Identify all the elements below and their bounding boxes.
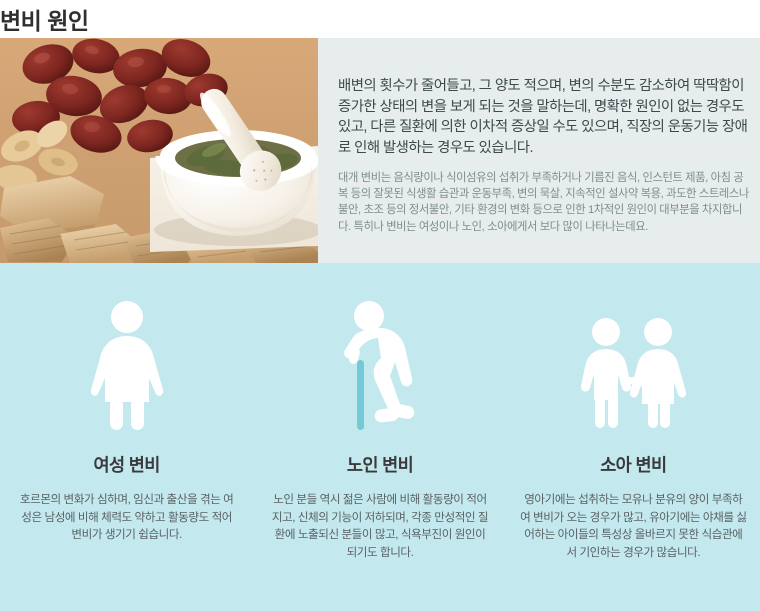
- elderly-with-cane-icon: [328, 290, 432, 430]
- cause-body-children: 영아기에는 섭취하는 모유나 분유의 양이 부족하여 변비가 오는 경우가 많고…: [519, 491, 747, 561]
- intro-sub-paragraph: 대개 변비는 음식량이나 식이섬유의 섭취가 부족하거나 기름진 음식, 인스턴…: [338, 170, 750, 235]
- cause-card-children: 소아 변비 영아기에는 섭취하는 모유나 분유의 양이 부족하여 변비가 오는 …: [507, 263, 760, 611]
- intro-text-block: 배변의 횟수가 줄어들고, 그 양도 적으며, 변의 수분도 감소하여 딱딱함이…: [338, 38, 750, 263]
- cause-columns: 여성 변비 호르몬의 변화가 심하며, 임신과 출산을 겪는 여성은 남성에 비…: [0, 263, 760, 611]
- woman-figure-icon: [79, 290, 175, 430]
- infographic-page: 변비 원인: [0, 0, 760, 611]
- cause-heading-elderly: 노인 변비: [347, 452, 413, 477]
- intro-section: 배변의 횟수가 줄어들고, 그 양도 적으며, 변의 수분도 감소하여 딱딱함이…: [0, 38, 760, 263]
- cause-body-elderly: 노인 분들 역시 젊은 사람에 비해 활동량이 적어지고, 신체의 기능이 저하…: [271, 491, 489, 561]
- cause-card-elderly: 노인 변비 노인 분들 역시 젊은 사람에 비해 활동량이 적어지고, 신체의 …: [253, 263, 506, 611]
- cane-shape: [357, 360, 364, 430]
- intro-lead-paragraph: 배변의 횟수가 줄어들고, 그 양도 적으며, 변의 수분도 감소하여 딱딱함이…: [338, 76, 750, 158]
- herbs-mortar-photo: [0, 38, 318, 263]
- cause-heading-children: 소아 변비: [600, 452, 666, 477]
- cause-card-women: 여성 변비 호르몬의 변화가 심하며, 임신과 출산을 겪는 여성은 남성에 비…: [0, 263, 253, 611]
- two-children-icon: [572, 290, 694, 430]
- cause-heading-women: 여성 변비: [94, 452, 160, 477]
- causes-section: 여성 변비 호르몬의 변화가 심하며, 임신과 출산을 겪는 여성은 남성에 비…: [0, 263, 760, 611]
- cause-body-women: 호르몬의 변화가 심하며, 임신과 출산을 겪는 여성은 남성에 비해 체력도 …: [18, 491, 236, 544]
- page-title: 변비 원인: [0, 0, 760, 38]
